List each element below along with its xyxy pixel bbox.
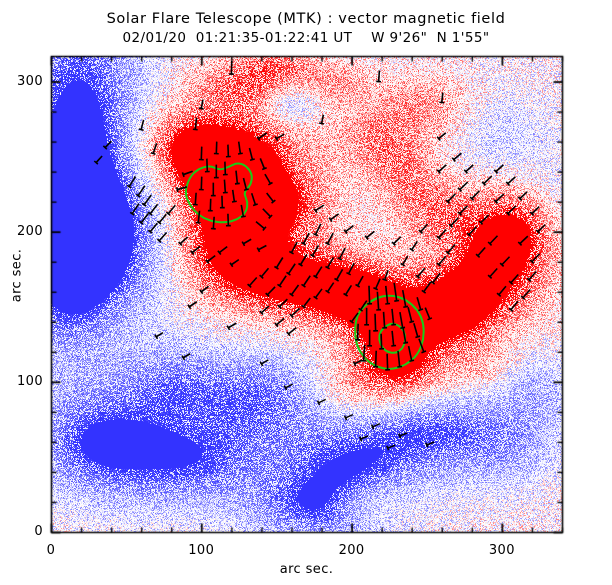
- x-tick-label: 100: [179, 543, 223, 558]
- magnetogram-figure: Solar Flare Telescope (MTK) : vector mag…: [0, 0, 612, 585]
- y-tick-label: 100: [3, 374, 43, 389]
- x-tick-label: 300: [480, 543, 524, 558]
- x-tick-label: 0: [29, 543, 73, 558]
- x-tick-label: 200: [330, 543, 374, 558]
- y-axis-title: arc sec.: [10, 241, 25, 311]
- y-tick-label: 0: [3, 524, 43, 539]
- y-tick-label: 300: [3, 74, 43, 89]
- plot-axes: [0, 0, 612, 585]
- x-axis-title: arc sec.: [51, 562, 562, 577]
- y-tick-label: 200: [3, 224, 43, 239]
